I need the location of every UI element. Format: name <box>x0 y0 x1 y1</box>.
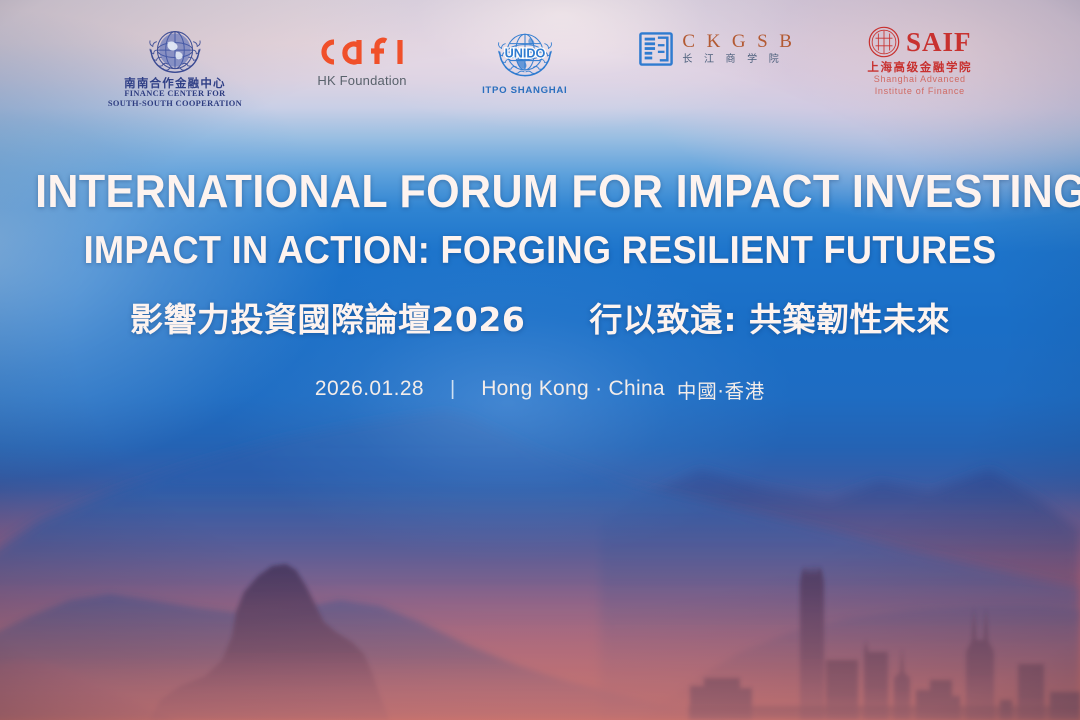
logo-saif-en1: Shanghai Advanced <box>874 75 966 84</box>
logo-unido-itpo-shanghai: UNIDO ITPO SHANGHAI <box>482 26 567 96</box>
logo-saif-letters: SAIF <box>906 29 972 56</box>
ckgsb-square-glyph-icon <box>639 32 673 66</box>
event-title-chinese-left: 影響力投資國際論壇2026 <box>130 293 525 341</box>
event-location-en: Hong Kong · China <box>481 377 665 401</box>
logo-ckgsb-en: C K G S B <box>682 32 795 52</box>
logo-cafi-subtitle: HK Foundation <box>317 74 406 88</box>
event-meta-row: 2026.01.28 | Hong Kong · China 中國·香港 <box>0 375 1080 404</box>
event-title-chinese-right: 行以致遠: 共築韌性未來 <box>589 293 950 341</box>
event-title-main: INTERNATIONAL FORUM FOR IMPACT INVESTING… <box>35 168 1045 214</box>
event-title-chinese-row: 影響力投資國際論壇2026 行以致遠: 共築韌性未來 <box>0 293 1080 341</box>
logo-saif-cn: 上海高级金融学院 <box>867 61 972 73</box>
meta-separator: | <box>450 378 455 401</box>
headline-block: INTERNATIONAL FORUM FOR IMPACT INVESTING… <box>0 168 1080 404</box>
cafi-wordmark-icon <box>314 34 410 68</box>
logo-ckgsb-cn: 长 江 商 学 院 <box>682 55 795 66</box>
logo-south-south-cn: 南南合作金融中心 <box>124 77 226 89</box>
logo-south-south-cooperation: 南南合作金融中心 FINANCE CENTER FOR SOUTH-SOUTH … <box>108 26 242 109</box>
logo-unido-subtitle: ITPO SHANGHAI <box>482 86 567 96</box>
event-title-subtitle: IMPACT IN ACTION: FORGING RESILIENT FUTU… <box>32 232 1047 271</box>
event-banner-backdrop: 南南合作金融中心 FINANCE CENTER FOR SOUTH-SOUTH … <box>0 0 1080 720</box>
logo-saif-en2: Institute of Finance <box>875 87 965 96</box>
un-globe-laurel-emblem-icon <box>147 26 203 76</box>
unido-wordmark-text: UNIDO <box>504 46 545 60</box>
event-date: 2026.01.28 <box>315 377 424 401</box>
logo-south-south-en2: SOUTH-SOUTH COOPERATION <box>108 100 242 109</box>
saif-circular-seal-icon <box>868 26 900 58</box>
logo-cafi-hk-foundation: HK Foundation <box>314 34 410 88</box>
logo-south-south-en1: FINANCE CENTER FOR <box>124 90 225 99</box>
unido-globe-laurel-emblem-icon: UNIDO <box>494 26 556 82</box>
logo-saif: SAIF 上海高级金融学院 Shanghai Advanced Institut… <box>867 26 972 96</box>
logo-ckgsb: C K G S B 长 江 商 学 院 <box>639 26 795 66</box>
event-location-cn: 中國·香港 <box>677 375 765 404</box>
partner-logo-bar: 南南合作金融中心 FINANCE CENTER FOR SOUTH-SOUTH … <box>0 26 1080 106</box>
